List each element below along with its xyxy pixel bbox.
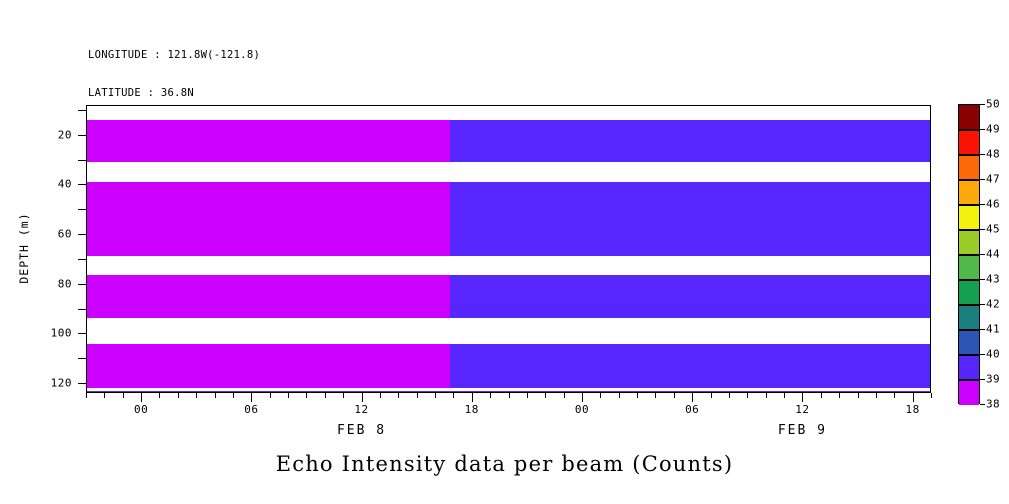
colorbar-tick bbox=[980, 104, 985, 105]
x-axis-tick bbox=[196, 393, 197, 398]
x-axis-tick bbox=[178, 393, 179, 398]
x-axis-tick bbox=[123, 393, 124, 398]
x-axis-tick-label: 00 bbox=[575, 403, 589, 416]
x-axis-tick bbox=[655, 393, 656, 398]
colorbar-swatch bbox=[959, 105, 979, 130]
x-axis-tick bbox=[435, 393, 436, 398]
colorbar-tick-label: 41 bbox=[986, 323, 1000, 336]
heatmap-band-segment bbox=[450, 275, 930, 318]
x-axis-tick-label: 18 bbox=[906, 403, 920, 416]
colorbar-swatch bbox=[959, 180, 979, 205]
heatmap-band-segment bbox=[87, 344, 450, 387]
x-axis-tick bbox=[600, 393, 601, 398]
colorbar-tick-label: 43 bbox=[986, 273, 1000, 286]
y-axis-tick-label: 40 bbox=[28, 178, 72, 191]
x-axis-tick bbox=[564, 393, 565, 398]
heatmap-band-segment bbox=[87, 275, 450, 318]
y-axis-tick bbox=[78, 160, 86, 161]
colorbar-tick-label: 45 bbox=[986, 223, 1000, 236]
colorbar-divider bbox=[959, 229, 979, 230]
x-axis-tick bbox=[527, 393, 528, 398]
x-axis-tick-label: 12 bbox=[354, 403, 368, 416]
x-axis-tick bbox=[637, 393, 638, 398]
heatmap-band-segment bbox=[450, 120, 930, 162]
x-axis-tick bbox=[380, 393, 381, 398]
colorbar-tick-label: 46 bbox=[986, 198, 1000, 211]
y-axis-tick-label: 80 bbox=[28, 277, 72, 290]
bottom-hairline bbox=[87, 391, 930, 392]
colorbar-tick bbox=[980, 404, 985, 405]
x-axis-tick bbox=[913, 393, 914, 402]
colorbar-tick-label: 40 bbox=[986, 348, 1000, 361]
colorbar-swatch bbox=[959, 305, 979, 330]
y-axis-tick bbox=[78, 135, 86, 136]
x-axis-tick bbox=[839, 393, 840, 398]
x-axis-tick bbox=[362, 393, 363, 402]
x-axis-tick bbox=[398, 393, 399, 398]
colorbar-swatch bbox=[959, 205, 979, 230]
x-axis-tick bbox=[858, 393, 859, 398]
colorbar-tick-label: 39 bbox=[986, 373, 1000, 386]
x-axis-tick bbox=[931, 393, 932, 398]
chart-title: Echo Intensity data per beam (Counts) bbox=[0, 452, 1009, 476]
x-axis-tick bbox=[802, 393, 803, 402]
x-axis-tick-label: 12 bbox=[795, 403, 809, 416]
y-axis-tick bbox=[78, 383, 86, 384]
y-axis-tick bbox=[78, 110, 86, 111]
x-axis-tick bbox=[270, 393, 271, 398]
x-axis-tick bbox=[876, 393, 877, 398]
colorbar-swatch bbox=[959, 155, 979, 180]
colorbar-tick bbox=[980, 254, 985, 255]
x-axis-tick bbox=[215, 393, 216, 398]
x-axis-tick bbox=[104, 393, 105, 398]
heatmap-band-segment bbox=[87, 182, 450, 256]
y-axis-label: DEPTH (m) bbox=[17, 212, 31, 283]
colorbar-tick bbox=[980, 229, 985, 230]
colorbar bbox=[958, 104, 980, 404]
colorbar-tick-label: 47 bbox=[986, 173, 1000, 186]
colorbar-divider bbox=[959, 279, 979, 280]
x-axis-tick bbox=[821, 393, 822, 398]
colorbar-tick bbox=[980, 279, 985, 280]
colorbar-tick bbox=[980, 154, 985, 155]
x-axis-tick bbox=[453, 393, 454, 398]
colorbar-divider bbox=[959, 254, 979, 255]
x-axis-tick bbox=[766, 393, 767, 398]
x-axis-tick-label: 06 bbox=[685, 403, 699, 416]
y-axis-tick-label: 20 bbox=[28, 128, 72, 141]
colorbar-tick-label: 48 bbox=[986, 148, 1000, 161]
x-axis-tick bbox=[545, 393, 546, 398]
colorbar-divider bbox=[959, 354, 979, 355]
x-axis-tick bbox=[729, 393, 730, 398]
x-axis-day-label: FEB 9 bbox=[778, 423, 827, 438]
y-axis-tick-label: 100 bbox=[28, 327, 72, 340]
y-axis-tick bbox=[78, 259, 86, 260]
y-axis-tick bbox=[78, 309, 86, 310]
x-axis-tick bbox=[472, 393, 473, 402]
x-axis-tick bbox=[784, 393, 785, 398]
colorbar-swatch bbox=[959, 330, 979, 355]
x-axis-tick bbox=[325, 393, 326, 398]
colorbar-divider bbox=[959, 154, 979, 155]
colorbar-tick bbox=[980, 204, 985, 205]
x-axis-tick-label: 06 bbox=[244, 403, 258, 416]
x-axis-tick bbox=[141, 393, 142, 402]
colorbar-swatch bbox=[959, 230, 979, 255]
colorbar-tick bbox=[980, 354, 985, 355]
colorbar-tick-label: 50 bbox=[986, 98, 1000, 111]
x-axis-tick bbox=[894, 393, 895, 398]
x-axis-tick bbox=[509, 393, 510, 398]
y-axis-tick bbox=[78, 284, 86, 285]
colorbar-tick bbox=[980, 379, 985, 380]
x-axis-tick bbox=[288, 393, 289, 398]
x-axis-tick bbox=[251, 393, 252, 402]
x-axis-tick bbox=[159, 393, 160, 398]
colorbar-swatch bbox=[959, 280, 979, 305]
heatmap-band-segment bbox=[450, 182, 930, 256]
colorbar-divider bbox=[959, 329, 979, 330]
x-axis-tick bbox=[343, 393, 344, 398]
colorbar-divider bbox=[959, 379, 979, 380]
y-axis-tick bbox=[78, 209, 86, 210]
x-axis-tick bbox=[306, 393, 307, 398]
colorbar-divider bbox=[959, 204, 979, 205]
plot-frame bbox=[86, 105, 931, 393]
y-axis-tick-label: 120 bbox=[28, 377, 72, 390]
x-axis-tick bbox=[233, 393, 234, 398]
colorbar-swatch bbox=[959, 355, 979, 380]
colorbar-tick bbox=[980, 129, 985, 130]
x-axis-tick bbox=[692, 393, 693, 402]
x-axis-tick-label: 18 bbox=[465, 403, 479, 416]
heatmap-band-segment bbox=[450, 344, 930, 387]
colorbar-tick-label: 49 bbox=[986, 123, 1000, 136]
x-axis-tick bbox=[711, 393, 712, 398]
colorbar-tick-label: 38 bbox=[986, 398, 1000, 411]
y-axis-tick-label: 60 bbox=[28, 228, 72, 241]
colorbar-tick-label: 44 bbox=[986, 248, 1000, 261]
x-axis-tick-label: 00 bbox=[134, 403, 148, 416]
latitude-text: LATITUDE : 36.8N bbox=[88, 87, 260, 100]
heatmap-canvas bbox=[87, 106, 930, 392]
colorbar-divider bbox=[959, 179, 979, 180]
y-axis-tick bbox=[78, 184, 86, 185]
colorbar-divider bbox=[959, 304, 979, 305]
colorbar-swatch bbox=[959, 130, 979, 155]
longitude-text: LONGITUDE : 121.8W(-121.8) bbox=[88, 49, 260, 62]
x-axis-tick bbox=[747, 393, 748, 398]
colorbar-tick bbox=[980, 304, 985, 305]
colorbar-tick bbox=[980, 329, 985, 330]
x-axis-tick bbox=[582, 393, 583, 402]
x-axis-tick bbox=[490, 393, 491, 398]
colorbar-tick-label: 42 bbox=[986, 298, 1000, 311]
x-axis-tick bbox=[674, 393, 675, 398]
y-axis-tick bbox=[78, 358, 86, 359]
x-axis-tick bbox=[86, 393, 87, 398]
heatmap-band-segment bbox=[87, 120, 450, 162]
colorbar-swatch bbox=[959, 380, 979, 405]
y-axis-tick bbox=[78, 234, 86, 235]
x-axis-tick bbox=[417, 393, 418, 398]
colorbar-tick bbox=[980, 179, 985, 180]
y-axis-tick bbox=[78, 333, 86, 334]
colorbar-divider bbox=[959, 129, 979, 130]
x-axis-day-label: FEB 8 bbox=[337, 423, 386, 438]
x-axis-tick bbox=[619, 393, 620, 398]
colorbar-swatch bbox=[959, 255, 979, 280]
